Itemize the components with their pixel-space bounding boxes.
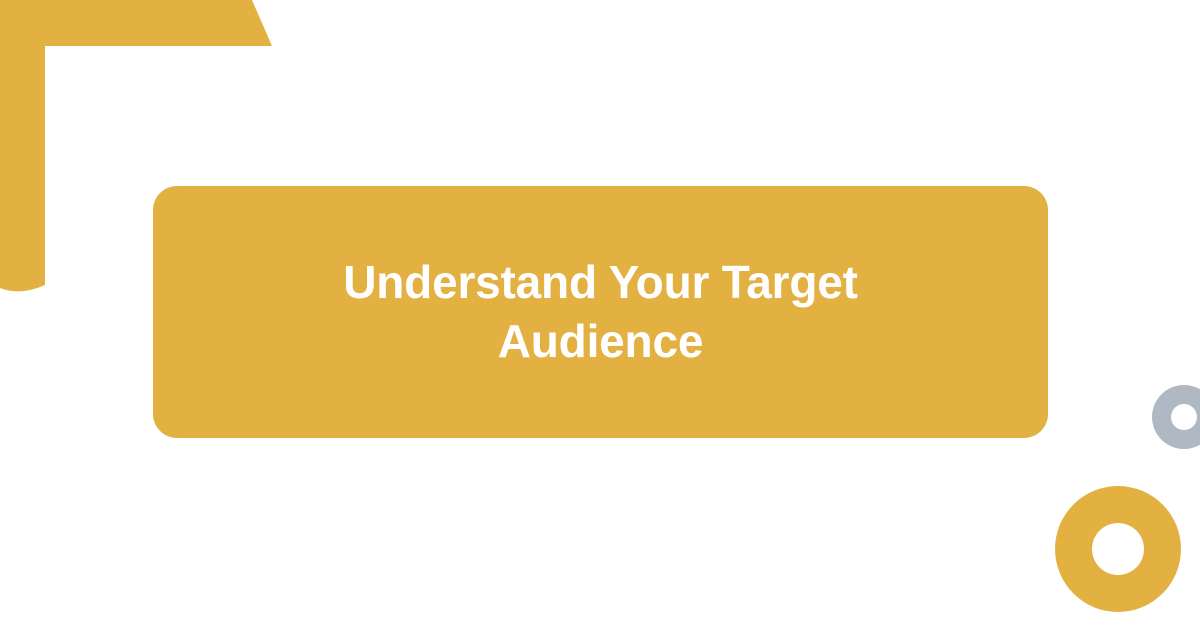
banner-card: Understand Your Target Audience [153,186,1048,438]
page-title: Understand Your Target Audience [291,253,911,371]
donut-gray-icon [1152,385,1200,449]
donut-yellow-icon [1055,486,1181,612]
banner-canvas: Understand Your Target Audience [0,0,1200,630]
